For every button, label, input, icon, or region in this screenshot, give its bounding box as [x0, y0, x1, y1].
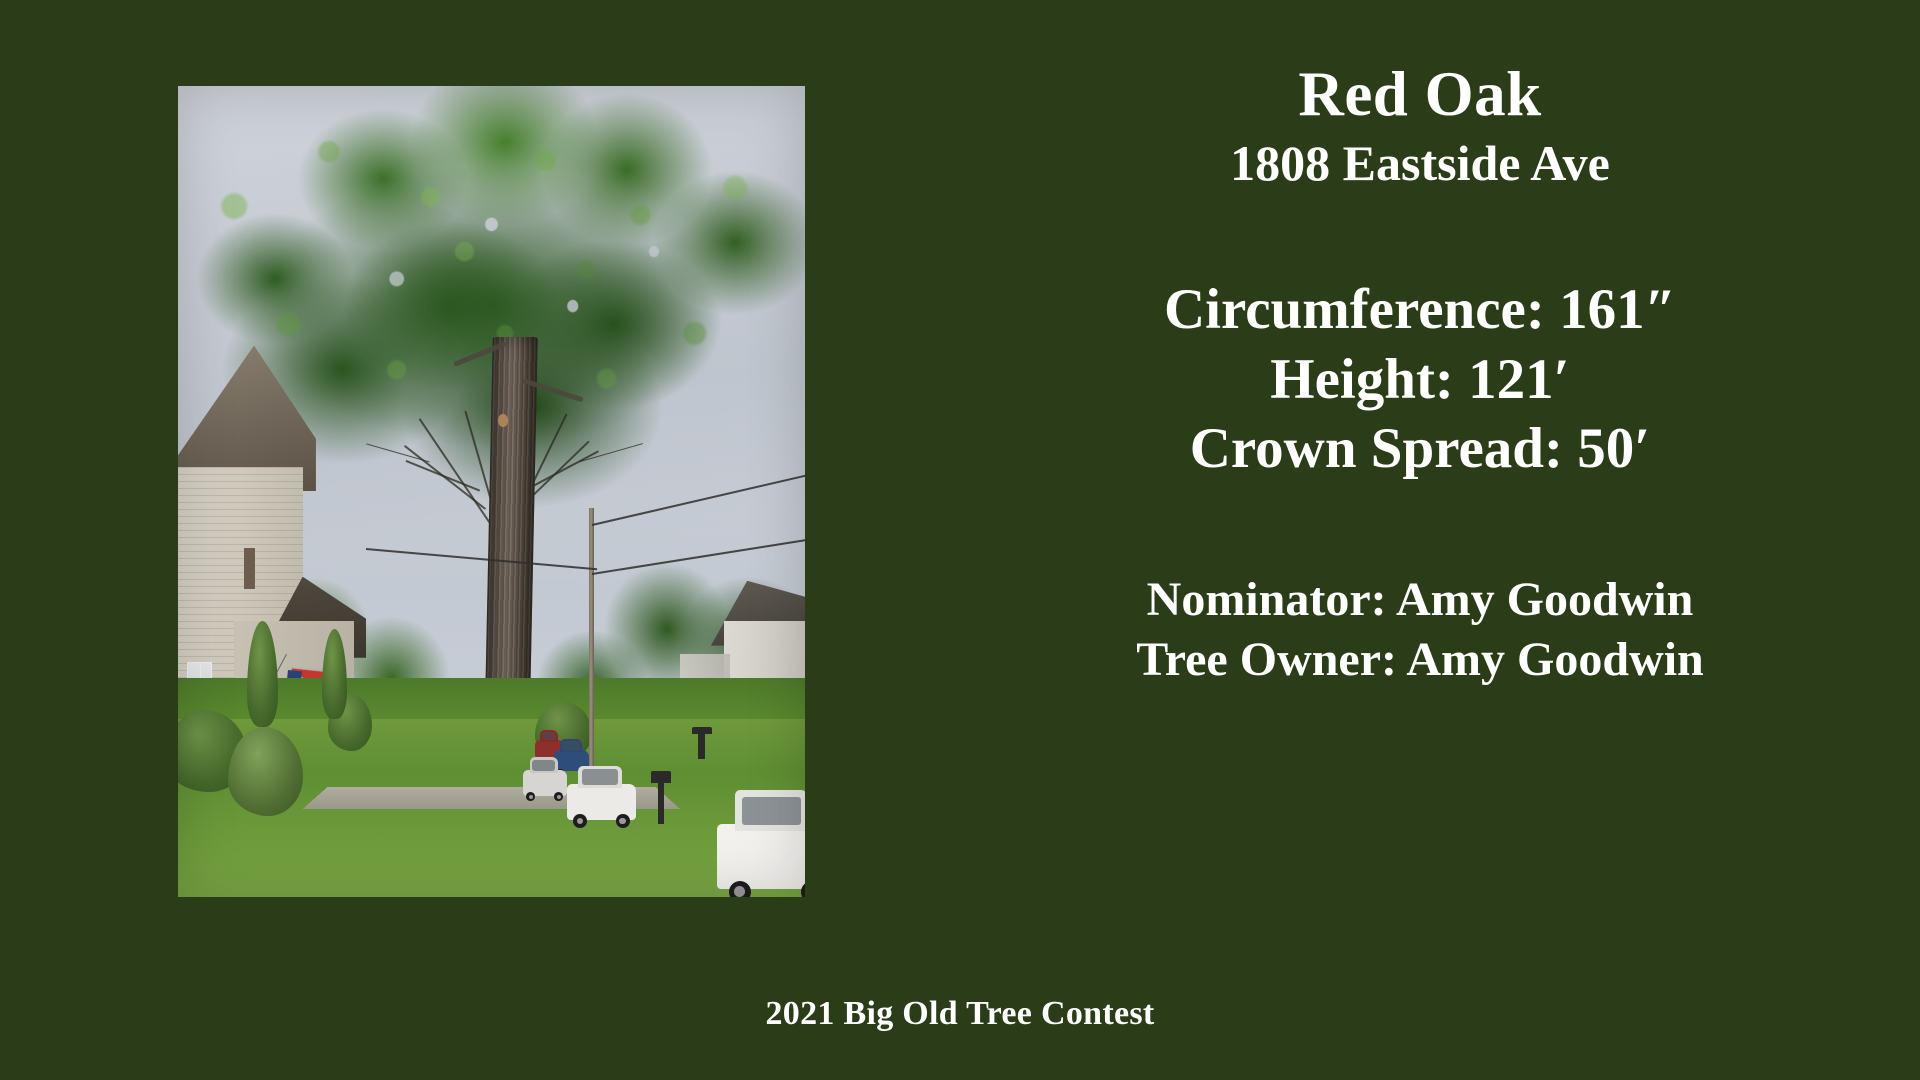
mailbox	[658, 771, 664, 824]
measurement-height: Height: 121′	[1010, 345, 1830, 415]
oak-trunk-scar	[498, 414, 508, 426]
measurement-crown-spread: Crown Spread: 50′	[1010, 414, 1830, 484]
measurement-circumference: Circumference: 161″	[1010, 275, 1830, 345]
utility-pole	[589, 508, 595, 784]
contest-footer: 2021 Big Old Tree Contest	[0, 995, 1920, 1033]
tree-photo-image	[178, 86, 805, 897]
parked-suv	[567, 784, 636, 820]
white-suv-foreground	[717, 824, 805, 889]
tree-owner: Tree Owner: Amy Goodwin	[1010, 630, 1830, 690]
nominator: Nominator: Amy Goodwin	[1010, 570, 1830, 630]
measurements-group: Circumference: 161″ Height: 121′ Crown S…	[1010, 275, 1830, 484]
tree-photo	[178, 86, 805, 897]
tree-name: Red Oak	[1010, 60, 1830, 128]
tree-contest-slide: Red Oak 1808 Eastside Ave Circumference:…	[0, 0, 1920, 1080]
mailbox	[698, 727, 704, 759]
parked-car	[523, 770, 567, 795]
chimney	[244, 548, 255, 589]
tree-address: 1808 Eastside Ave	[1010, 136, 1830, 191]
tree-info-panel: Red Oak 1808 Eastside Ave Circumference:…	[1010, 60, 1830, 691]
people-group: Nominator: Amy Goodwin Tree Owner: Amy G…	[1010, 570, 1830, 691]
